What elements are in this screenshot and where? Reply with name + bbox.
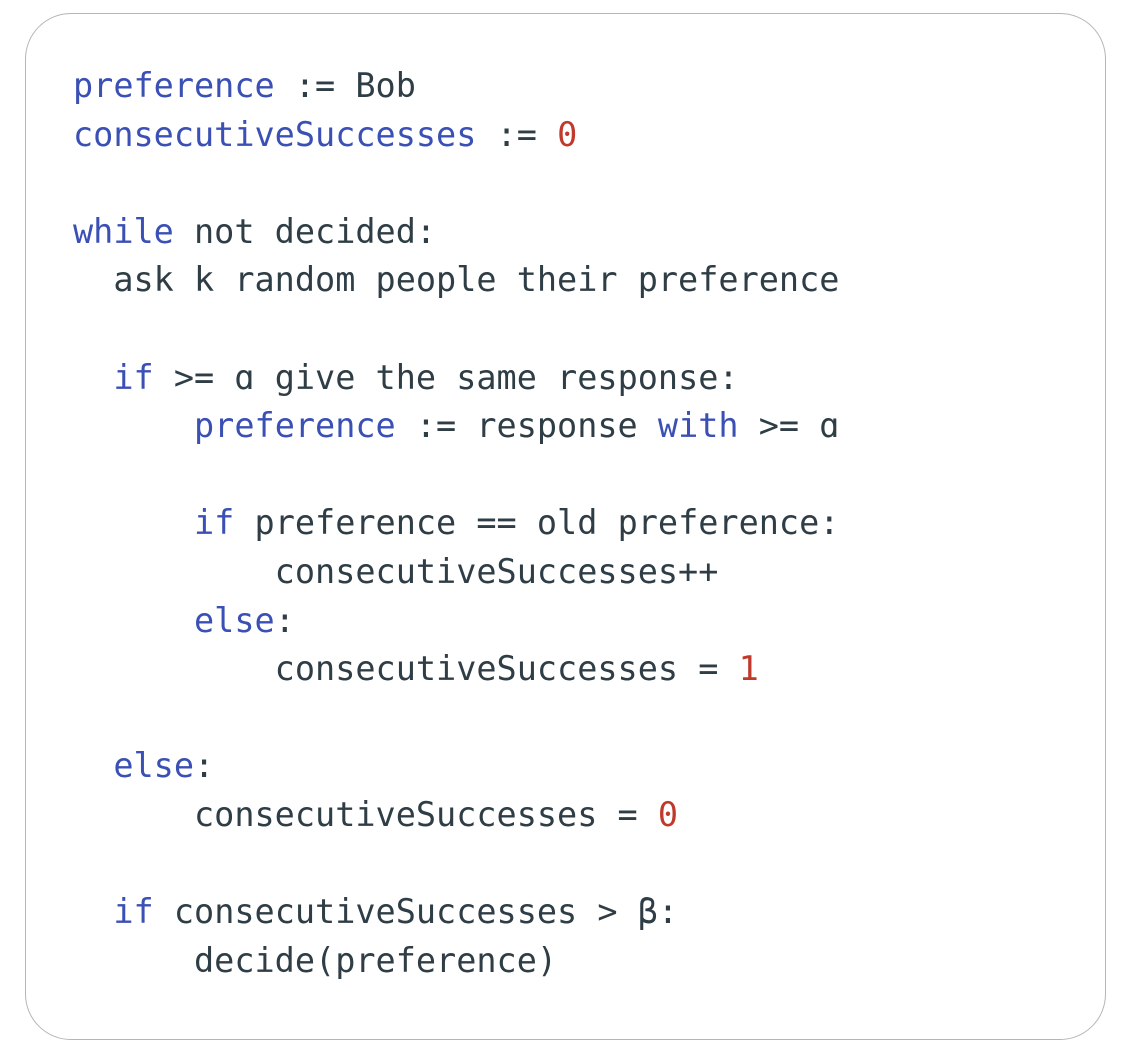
code-token-txt: consecutiveSuccesses++ — [73, 552, 718, 591]
code-token-txt: consecutiveSuccesses > β: — [154, 892, 678, 931]
code-line: while not decided: — [73, 208, 839, 257]
code-token-txt: not decided: — [174, 212, 436, 251]
code-line — [73, 840, 839, 889]
code-token-txt — [73, 358, 113, 397]
code-token-kw: if — [113, 358, 153, 397]
code-token-txt — [73, 892, 113, 931]
code-token-var: consecutiveSuccesses — [73, 115, 476, 154]
code-token-kw: if — [194, 503, 234, 542]
code-token-txt: >= ɑ give the same response: — [154, 358, 739, 397]
code-token-txt: consecutiveSuccesses = — [73, 795, 658, 834]
code-line: if consecutiveSuccesses > β: — [73, 888, 839, 937]
code-token-txt: ask k random people their preference — [73, 260, 839, 299]
code-token-var: preference — [73, 66, 275, 105]
code-line: decide(preference) — [73, 937, 839, 986]
code-token-txt: := — [476, 115, 557, 154]
code-token-num: 1 — [739, 649, 759, 688]
code-token-txt: : — [194, 746, 214, 785]
code-token-kw: else — [194, 601, 275, 640]
pseudocode-card: preference := BobconsecutiveSuccesses :=… — [25, 13, 1106, 1040]
code-token-txt — [73, 503, 194, 542]
code-token-kw: while — [73, 212, 174, 251]
code-line: ask k random people their preference — [73, 256, 839, 305]
code-line: consecutiveSuccesses = 1 — [73, 645, 839, 694]
code-line: consecutiveSuccesses := 0 — [73, 111, 839, 160]
code-token-num: 0 — [658, 795, 678, 834]
code-line: consecutiveSuccesses++ — [73, 548, 839, 597]
code-line: else: — [73, 742, 839, 791]
code-line: if preference == old preference: — [73, 499, 839, 548]
code-token-txt: decide(preference) — [73, 941, 557, 980]
code-line: preference := response with >= ɑ — [73, 402, 839, 451]
code-token-kw: with — [658, 406, 739, 445]
code-token-txt: preference == old preference: — [234, 503, 839, 542]
code-token-txt: := — [275, 66, 356, 105]
code-line: consecutiveSuccesses = 0 — [73, 791, 839, 840]
pseudocode-block: preference := BobconsecutiveSuccesses :=… — [73, 62, 839, 985]
code-token-num: 0 — [557, 115, 577, 154]
code-line: if >= ɑ give the same response: — [73, 354, 839, 403]
code-token-txt: Bob — [355, 66, 416, 105]
code-line — [73, 305, 839, 354]
code-token-txt — [73, 601, 194, 640]
code-token-txt: : — [275, 601, 295, 640]
code-token-txt: := response — [396, 406, 658, 445]
code-line — [73, 451, 839, 500]
code-line — [73, 159, 839, 208]
code-token-var: preference — [194, 406, 396, 445]
code-token-txt: >= ɑ — [739, 406, 840, 445]
code-line — [73, 694, 839, 743]
code-token-txt — [73, 406, 194, 445]
code-token-kw: else — [113, 746, 194, 785]
code-token-txt: consecutiveSuccesses = — [73, 649, 739, 688]
code-line: else: — [73, 597, 839, 646]
code-token-kw: if — [113, 892, 153, 931]
code-line: preference := Bob — [73, 62, 839, 111]
code-token-txt — [73, 746, 113, 785]
